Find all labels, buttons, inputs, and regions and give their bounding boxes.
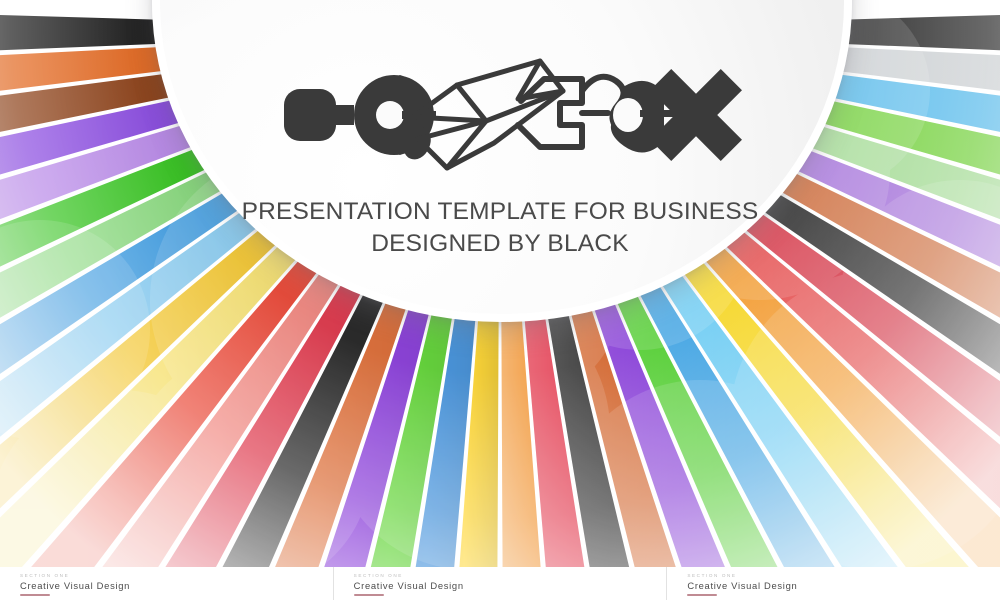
section-accent-rule [687,594,717,596]
bottom-section-3[interactable]: SECTION ONE Creative Visual Design [666,567,1000,600]
bottom-section-bar: SECTION ONE Creative Visual Design SECTI… [0,567,1000,600]
section-headline: Creative Visual Design [20,581,333,591]
bottom-section-1[interactable]: SECTION ONE Creative Visual Design [0,567,333,600]
title-line-2: DESIGNED BY BLACK [150,228,850,260]
section-kicker: SECTION ONE [687,574,1000,579]
section-accent-rule [20,594,50,596]
slide-title: PRESENTATION TEMPLATE FOR BUSINESS DESIG… [150,196,850,261]
section-kicker: SECTION ONE [20,574,333,579]
brand-logo [282,55,742,175]
section-accent-rule [354,594,384,596]
section-kicker: SECTION ONE [354,574,667,579]
section-headline: Creative Visual Design [354,581,667,591]
logo-artwork [282,55,742,175]
presentation-title-slide: PRESENTATION TEMPLATE FOR BUSINESS DESIG… [0,0,1000,600]
bottom-section-2[interactable]: SECTION ONE Creative Visual Design [333,567,667,600]
section-headline: Creative Visual Design [687,581,1000,591]
title-line-1: PRESENTATION TEMPLATE FOR BUSINESS [150,196,850,228]
